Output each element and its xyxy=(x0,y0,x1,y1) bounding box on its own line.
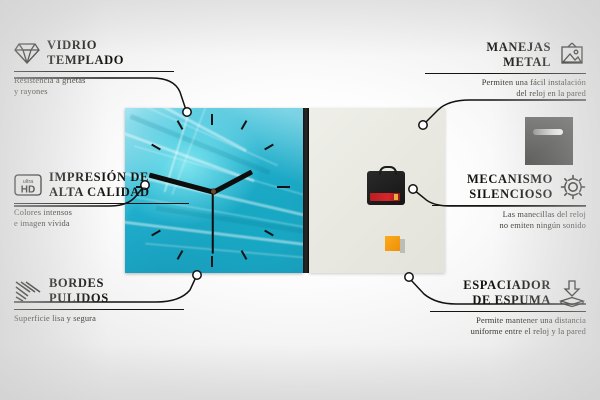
polished-edges-icon xyxy=(14,280,42,302)
infographic-canvas: VIDRIOTEMPLADO Resistencia a grietasy ra… xyxy=(0,0,600,400)
callout-divider xyxy=(432,205,586,206)
metal-hanger-swatch xyxy=(525,117,573,165)
clock-mechanism-box xyxy=(367,171,405,205)
callout-title: BORDESPULIDOS xyxy=(49,276,109,306)
callout-impresion-alta-calidad[interactable]: ultra HD IMPRESIÓN DEALTA CALIDAD Colore… xyxy=(14,170,189,230)
foam-spacer-shadow xyxy=(400,239,405,253)
callout-vidrio-templado[interactable]: VIDRIOTEMPLADO Resistencia a grietasy ra… xyxy=(14,38,174,98)
callout-title: VIDRIOTEMPLADO xyxy=(47,38,124,68)
callout-mecanismo-silencioso[interactable]: MECANISMOSILENCIOSO Las manecillas del r… xyxy=(432,172,586,232)
clock-center-pin xyxy=(211,189,216,194)
callout-subtitle: Colores intensose imagen vívida xyxy=(14,208,189,230)
callout-divider xyxy=(430,311,586,312)
clock-second-hand xyxy=(212,191,214,253)
callout-subtitle: Resistencia a grietasy rayones xyxy=(14,76,174,98)
connector-endpoint xyxy=(405,273,413,281)
callout-bordes-pulidos[interactable]: BORDESPULIDOS Superficie lisa y segura xyxy=(14,276,184,325)
foam-spacer xyxy=(385,236,400,251)
callout-subtitle: Permiten una fácil instalacióndel reloj … xyxy=(425,78,586,100)
callout-divider xyxy=(14,71,174,72)
clock-tick xyxy=(151,230,161,237)
metal-hanger-bracket xyxy=(533,129,563,135)
diamond-icon xyxy=(14,41,40,65)
battery xyxy=(370,193,400,201)
clock-tick xyxy=(177,120,184,130)
clock-tick xyxy=(241,250,248,260)
clock-tick xyxy=(211,256,213,267)
callout-title: MECANISMOSILENCIOSO xyxy=(467,172,553,202)
arrow-down-cushion-icon xyxy=(558,280,586,306)
gear-icon xyxy=(560,174,586,200)
callout-title: IMPRESIÓN DEALTA CALIDAD xyxy=(49,170,150,200)
callout-espaciador-espuma[interactable]: ESPACIADORDE ESPUMA Permite mantener una… xyxy=(430,278,586,338)
callout-divider xyxy=(425,73,586,74)
clock-tick xyxy=(177,250,184,260)
ultra-hd-icon-large-label: HD xyxy=(21,184,35,195)
clock-tick xyxy=(151,144,161,151)
clock-tick xyxy=(241,120,248,130)
clock-tick xyxy=(264,144,274,151)
clock-tick xyxy=(211,114,213,125)
callout-subtitle: Permite mantener una distanciauniforme e… xyxy=(430,316,586,338)
callout-subtitle: Superficie lisa y segura xyxy=(14,314,184,325)
battery-terminal xyxy=(394,194,398,200)
callout-title: MANEJASMETAL xyxy=(486,40,551,70)
clock-hour-hand xyxy=(212,170,253,195)
callout-divider xyxy=(14,309,184,310)
clock-tick xyxy=(264,230,274,237)
mechanism-hanging-loop xyxy=(379,166,397,175)
ultra-hd-icon: ultra HD xyxy=(14,173,42,197)
callout-subtitle: Las manecillas del relojno emiten ningún… xyxy=(432,210,586,232)
callout-divider xyxy=(14,203,189,204)
clock-back-panel xyxy=(309,108,445,273)
framed-picture-hanging-icon xyxy=(558,42,586,67)
callout-title: ESPACIADORDE ESPUMA xyxy=(463,278,551,308)
callout-manejas-metal[interactable]: MANEJASMETAL Permiten una fácil instalac… xyxy=(425,40,586,100)
clock-tick xyxy=(277,186,290,188)
